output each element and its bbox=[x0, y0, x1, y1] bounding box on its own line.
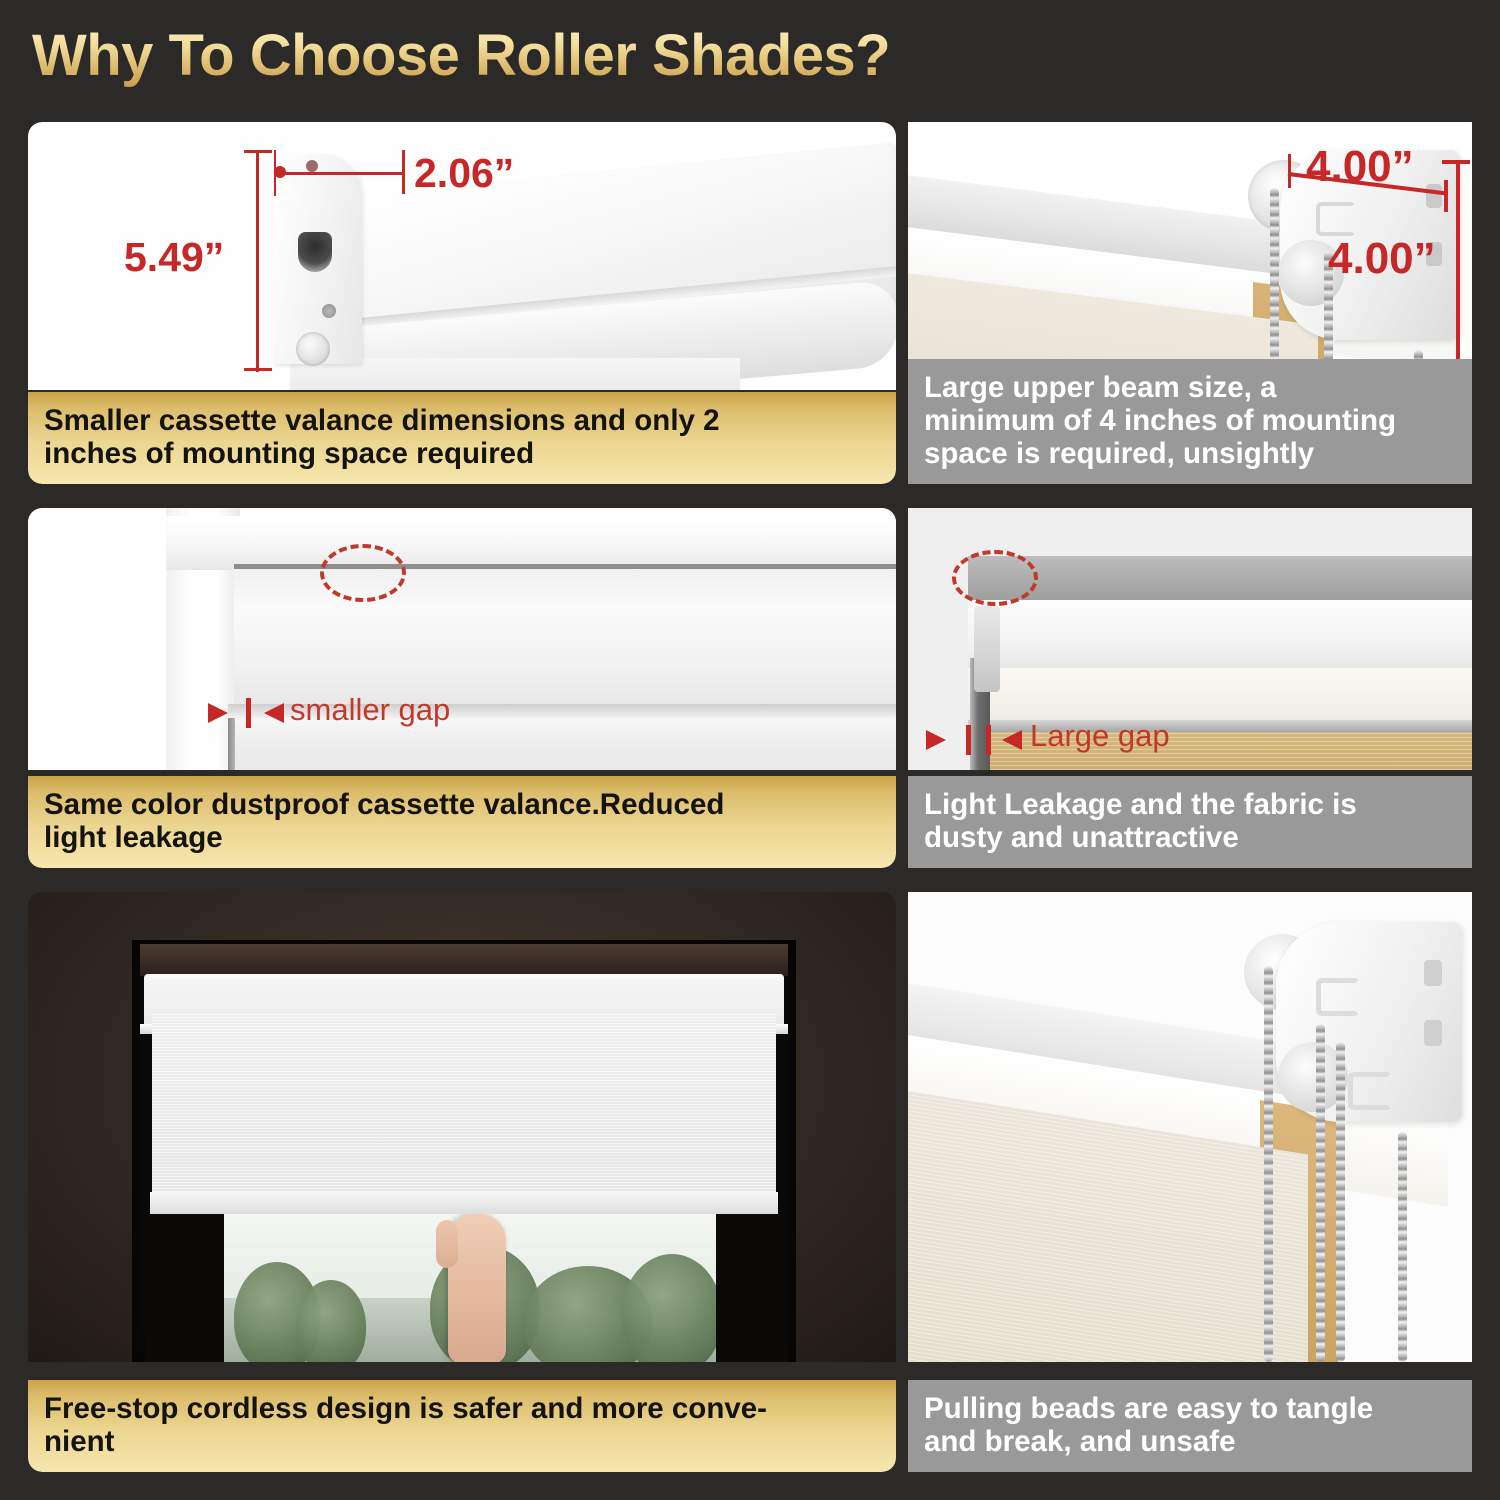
caption-line-2: and break, and unsafe bbox=[924, 1425, 1456, 1458]
bead-chain-2 bbox=[1316, 1024, 1325, 1362]
gap-tick-2 bbox=[986, 725, 991, 755]
dim-line-height bbox=[1456, 160, 1460, 364]
panel-5-image bbox=[28, 892, 896, 1362]
gap-arrow-left-icon bbox=[208, 703, 228, 723]
infographic-page: Why To Choose Roller Shades? 2.06” bbox=[0, 0, 1500, 1500]
caption-line-1: Light Leakage and the fabric is bbox=[924, 788, 1456, 821]
dimension-label-width: 2.06” bbox=[414, 150, 514, 197]
dim-tick-right bbox=[402, 150, 405, 194]
gap-arrow-left-icon bbox=[926, 730, 946, 750]
panel-6-image bbox=[908, 892, 1472, 1362]
caption-line-1: Pulling beads are easy to tangle bbox=[924, 1392, 1456, 1425]
panel-pulling-beads: Pulling beads are easy to tangle and bre… bbox=[908, 892, 1472, 1472]
panel-light-leakage: Large gap Light Leakage and the fabric i… bbox=[908, 508, 1472, 868]
panel-dustproof-cassette: smaller gap Same color dustproof cassett… bbox=[28, 508, 896, 868]
caption-line-2: light leakage bbox=[44, 821, 880, 854]
tan-shade-large-gap-illustration: Large gap bbox=[908, 508, 1472, 770]
caption-line-1: Large upper beam size, a bbox=[924, 371, 1456, 404]
dimension-label-height: 4.00” bbox=[1328, 234, 1436, 284]
dim-line-width bbox=[274, 172, 404, 175]
panel-4-image: Large gap bbox=[908, 508, 1472, 770]
gap-tick bbox=[246, 698, 251, 728]
caption-line-2: inches of mounting space required bbox=[44, 437, 880, 470]
gap-label: Large gap bbox=[1030, 718, 1170, 754]
bead-chain-3 bbox=[1336, 1042, 1345, 1362]
panel-3-caption: Same color dustproof cassette valance.Re… bbox=[28, 776, 896, 868]
panel-2-image: 4.00” 4.00” bbox=[908, 122, 1472, 390]
panel-smaller-cassette: 2.06” 5.49” Smaller cassette valance dim… bbox=[28, 122, 896, 484]
dim-tick-right bbox=[1444, 180, 1448, 212]
highlight-circle-icon bbox=[320, 544, 406, 602]
dim-line-height bbox=[256, 150, 259, 372]
panel-2-caption: Large upper beam size, a minimum of 4 in… bbox=[908, 359, 1472, 484]
bead-chain-4 bbox=[1398, 1132, 1407, 1362]
caption-line-2: nient bbox=[44, 1425, 880, 1458]
caption-line-2: minimum of 4 inches of mounting bbox=[924, 404, 1456, 437]
gap-label: smaller gap bbox=[290, 692, 450, 728]
dim-tick-left bbox=[1288, 154, 1291, 188]
panel-5-caption: Free-stop cordless design is safer and m… bbox=[28, 1380, 896, 1472]
caption-line-1: Smaller cassette valance dimensions and … bbox=[44, 404, 880, 437]
panel-6-caption: Pulling beads are easy to tangle and bre… bbox=[908, 1380, 1472, 1472]
caption-line-3: space is required, unsightly bbox=[924, 437, 1456, 470]
dim-dot bbox=[274, 166, 286, 178]
roller-shade-bead-chains-illustration bbox=[908, 892, 1472, 1362]
dim-cap-top bbox=[244, 150, 272, 153]
room-window-cordless-illustration bbox=[28, 892, 896, 1362]
panel-4-caption: Light Leakage and the fabric is dusty an… bbox=[908, 776, 1472, 868]
panel-cordless-design: Free-stop cordless design is safer and m… bbox=[28, 892, 896, 1472]
roller-shade-bracket-illustration: 4.00” 4.00” bbox=[908, 122, 1472, 390]
dimension-label-width: 4.00” bbox=[1306, 142, 1414, 192]
gap-arrow-right-icon bbox=[264, 703, 284, 723]
bead-chain-1 bbox=[1264, 966, 1273, 1362]
dim-cap-top bbox=[1442, 160, 1470, 164]
panel-1-image: 2.06” 5.49” bbox=[28, 122, 896, 390]
gap-arrow-right-icon bbox=[1002, 730, 1022, 750]
dimension-label-height: 5.49” bbox=[124, 234, 224, 281]
panel-1-caption: Smaller cassette valance dimensions and … bbox=[28, 392, 896, 484]
page-title: Why To Choose Roller Shades? bbox=[32, 22, 890, 89]
panel-large-upper-beam: 4.00” 4.00” Large upper beam size, a min… bbox=[908, 122, 1472, 484]
hand-illustration bbox=[448, 1214, 506, 1362]
caption-line-1: Same color dustproof cassette valance.Re… bbox=[44, 788, 880, 821]
caption-line-1: Free-stop cordless design is safer and m… bbox=[44, 1392, 880, 1425]
dim-cap-bottom bbox=[244, 368, 272, 371]
gap-tick-1 bbox=[966, 725, 971, 755]
panel-3-image: smaller gap bbox=[28, 508, 896, 770]
cassette-valance-illustration: 2.06” 5.49” bbox=[28, 122, 896, 390]
caption-line-2: dusty and unattractive bbox=[924, 821, 1456, 854]
window-install-small-gap-illustration: smaller gap bbox=[28, 508, 896, 770]
highlight-circle-icon bbox=[952, 550, 1038, 606]
